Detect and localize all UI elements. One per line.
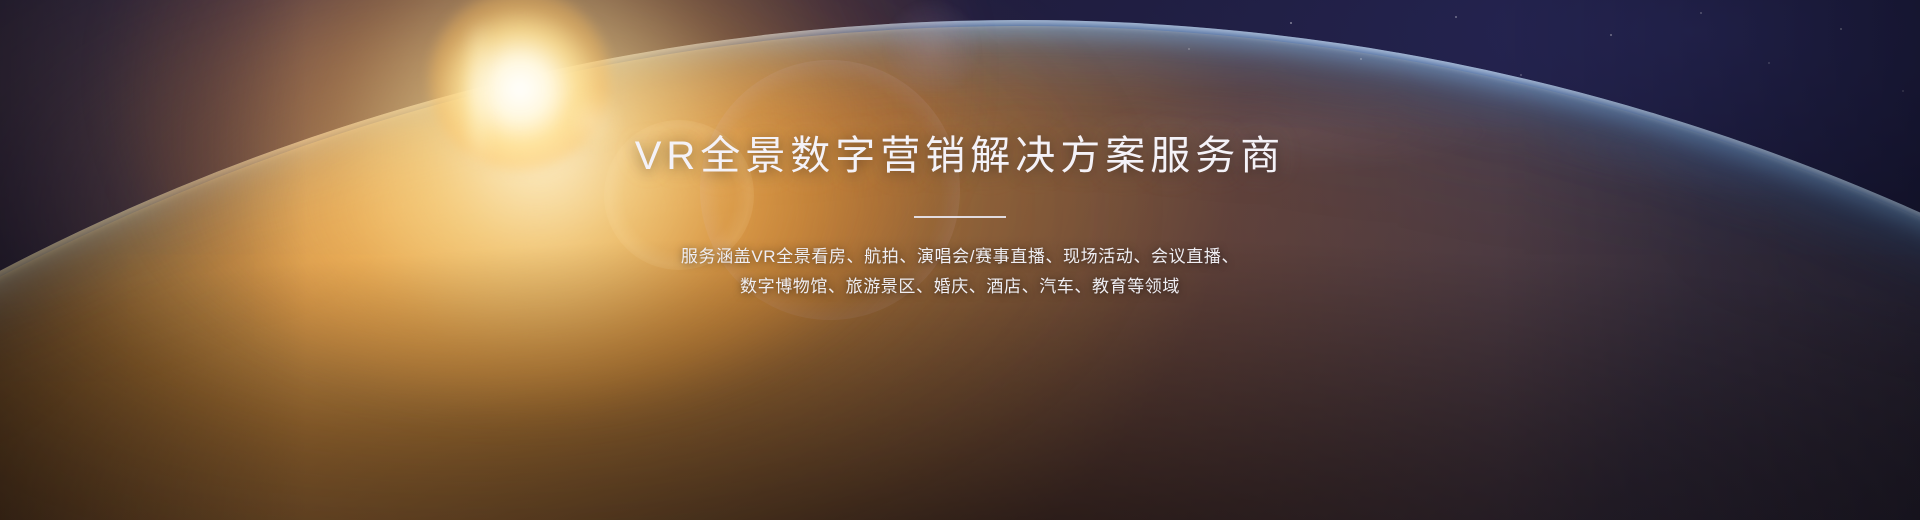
hero-subtitle-line-1: 服务涵盖VR全景看房、航拍、演唱会/赛事直播、现场活动、会议直播、 [0, 242, 1920, 272]
hero-subtitle: 服务涵盖VR全景看房、航拍、演唱会/赛事直播、现场活动、会议直播、 数字博物馆、… [0, 242, 1920, 302]
page-title: VR全景数字营销解决方案服务商 [0, 132, 1920, 180]
hero-subtitle-line-2: 数字博物馆、旅游景区、婚庆、酒店、汽车、教育等领域 [0, 272, 1920, 302]
hero-copy-block: VR全景数字营销解决方案服务商 服务涵盖VR全景看房、航拍、演唱会/赛事直播、现… [0, 132, 1920, 302]
hero-banner: VR全景数字营销解决方案服务商 服务涵盖VR全景看房、航拍、演唱会/赛事直播、现… [0, 0, 1920, 520]
title-divider [914, 216, 1006, 218]
